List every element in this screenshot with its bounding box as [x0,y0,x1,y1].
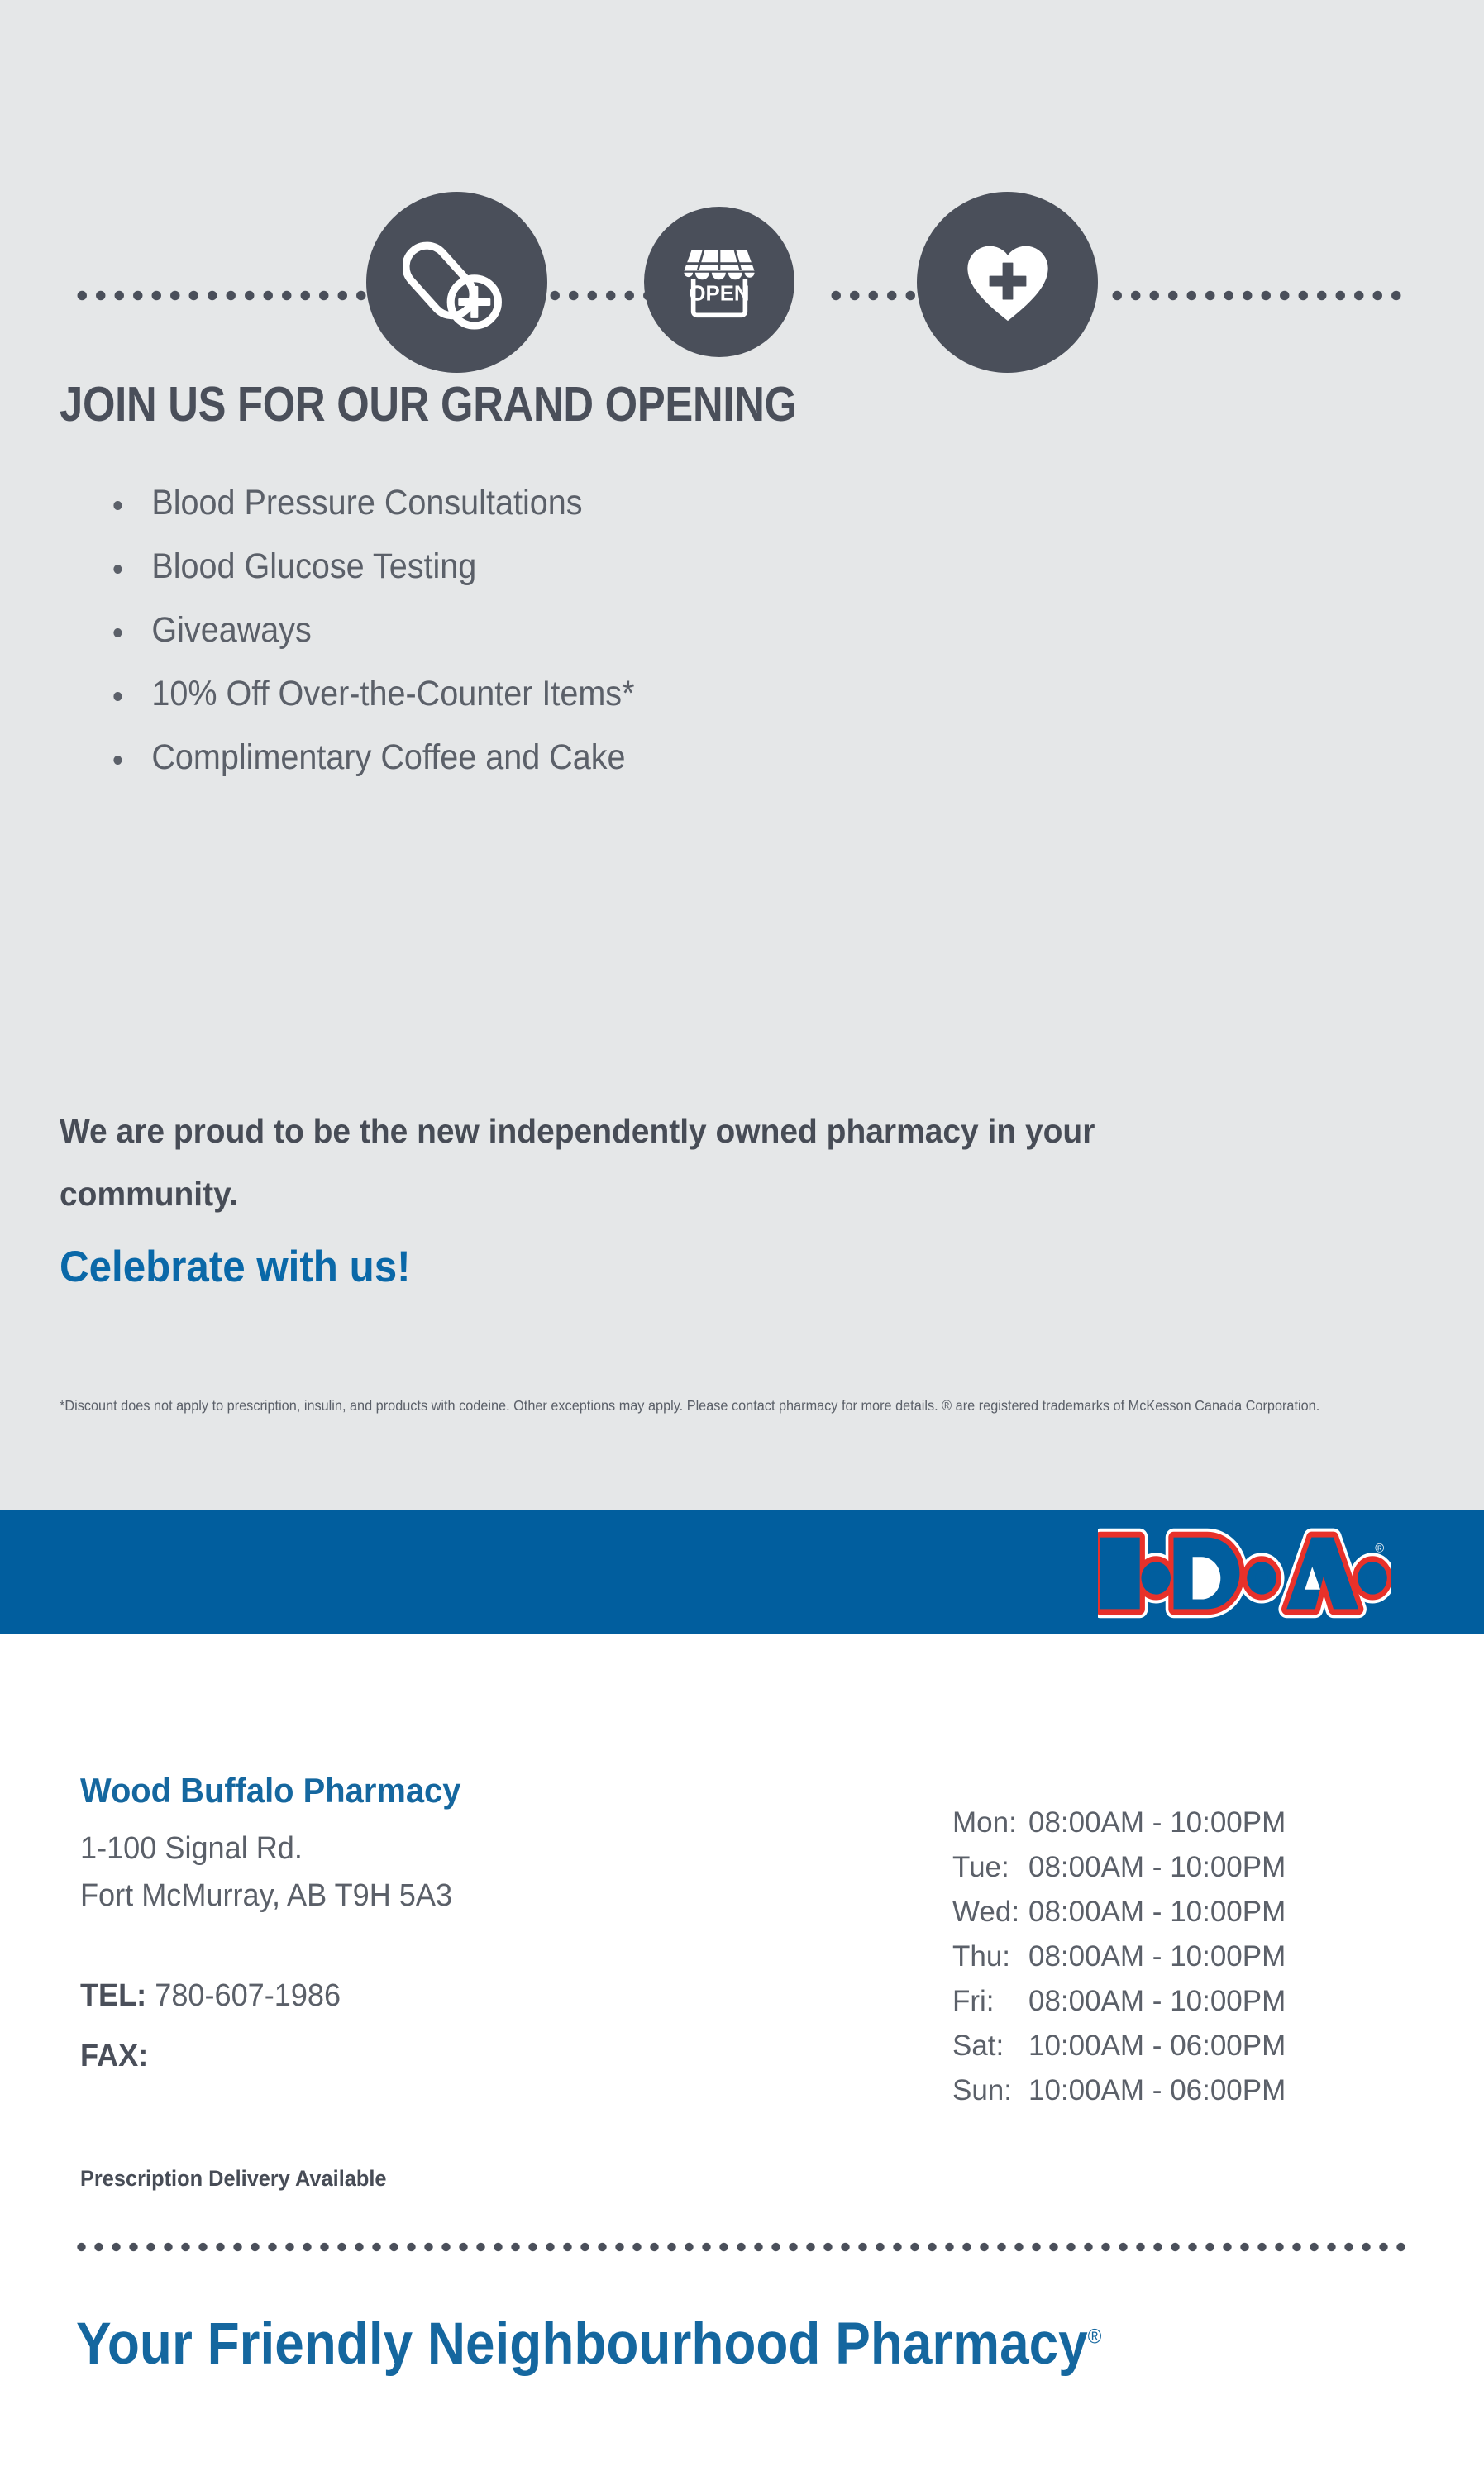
hours-time: 10:00AM - 06:00PM [1028,2068,1286,2113]
telephone-label: TEL: [80,1978,146,2013]
list-item: Complimentary Coffee and Cake [107,726,634,790]
address-line-1: 1-100 Signal Rd. [80,1825,452,1873]
hours-table: Mon: 08:00AM - 10:00PM Tue: 08:00AM - 10… [952,1801,1286,2113]
table-row: Sun: 10:00AM - 06:00PM [952,2068,1286,2113]
telephone-line: TEL: 780-607-1986 [80,1978,341,2014]
storefront-sign-text: OPEN [690,282,750,305]
footer-tagline-text: Your Friendly Neighbourhood Pharmacy [76,2311,1088,2377]
offer-list: Blood Pressure Consultations Blood Gluco… [107,471,680,790]
list-item: Giveaways [107,599,634,662]
hours-time: 08:00AM - 10:00PM [1028,1890,1286,1935]
dotted-rail-right [1108,290,1401,301]
hours-day: Mon: [952,1801,1028,1845]
hours-time: 10:00AM - 06:00PM [1028,2024,1286,2068]
address-line-2: Fort McMurray, AB T9H 5A3 [80,1873,452,1920]
fax-label: FAX: [80,2039,148,2073]
storefront-open-icon: OPEN [644,207,794,357]
hours-day: Fri: [952,1979,1028,2024]
table-row: Wed: 08:00AM - 10:00PM [952,1890,1286,1935]
icon-strip: OPEN [0,95,1484,306]
heart-plus-icon [917,192,1098,373]
table-row: Mon: 08:00AM - 10:00PM [952,1801,1286,1845]
footer-registered-mark: ® [1088,2325,1102,2348]
hours-day: Sat: [952,2024,1028,2068]
fax-line: FAX: [80,2039,148,2074]
dotted-divider [73,2242,1412,2252]
store-address: 1-100 Signal Rd. Fort McMurray, AB T9H 5… [80,1825,452,1920]
hours-day: Thu: [952,1935,1028,1979]
store-name: Wood Buffalo Pharmacy [80,1771,460,1810]
list-item: Blood Glucose Testing [107,535,634,599]
hours-time: 08:00AM - 10:00PM [1028,1979,1286,2024]
hours-day: Tue: [952,1845,1028,1890]
disclaimer-text: *Discount does not apply to prescription… [60,1394,1320,1417]
hours-time: 08:00AM - 10:00PM [1028,1935,1286,1979]
table-row: Sat: 10:00AM - 06:00PM [952,2024,1286,2068]
telephone-value: 780-607-1986 [155,1978,341,2013]
registered-mark: ® [1375,1542,1384,1555]
pills-plus-icon [366,192,547,373]
table-row: Tue: 08:00AM - 10:00PM [952,1845,1286,1890]
list-item: Blood Pressure Consultations [107,471,634,535]
ida-logo: ® [1098,1527,1391,1620]
proud-statement: We are proud to be the new independently… [60,1100,1206,1225]
hours-time: 08:00AM - 10:00PM [1028,1845,1286,1890]
hours-day: Wed: [952,1890,1028,1935]
table-row: Thu: 08:00AM - 10:00PM [952,1935,1286,1979]
page-title: JOIN US FOR OUR GRAND OPENING [60,376,797,432]
table-row: Fri: 08:00AM - 10:00PM [952,1979,1286,2024]
hours-day: Sun: [952,2068,1028,2113]
delivery-note: Prescription Delivery Available [80,2166,387,2192]
dotted-rail-left [73,290,370,301]
celebrate-heading: Celebrate with us! [60,1242,411,1292]
list-item: 10% Off Over-the-Counter Items* [107,662,634,726]
hours-time: 08:00AM - 10:00PM [1028,1801,1286,1845]
footer-tagline: Your Friendly Neighbourhood Pharmacy® [76,2311,1101,2378]
